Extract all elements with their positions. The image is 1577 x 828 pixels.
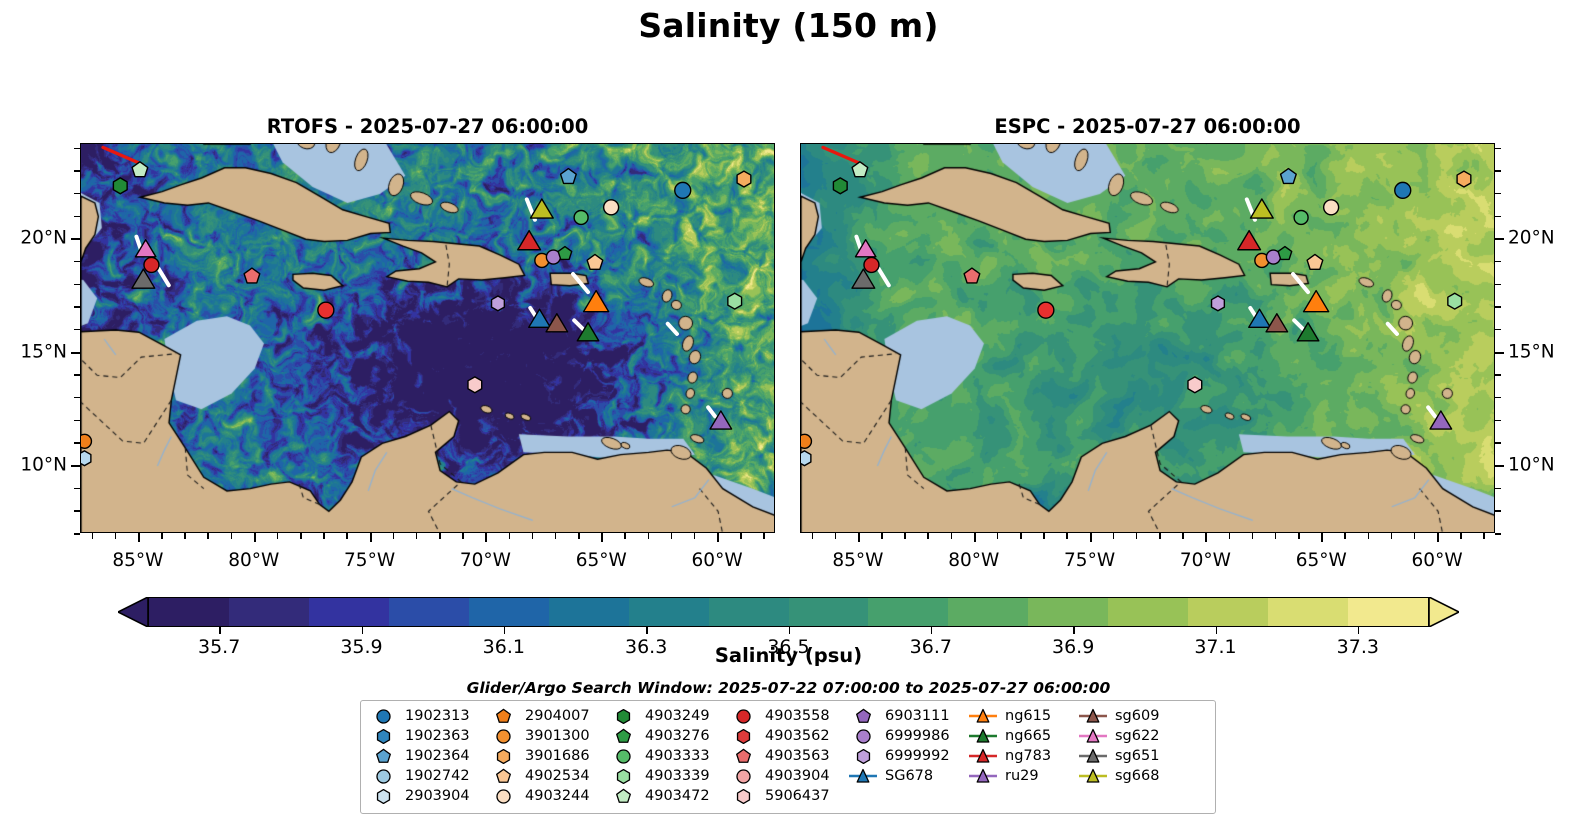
- colorbar-band-8: [789, 598, 869, 626]
- legend-column-6: sg609sg622sg651sg668: [1078, 706, 1188, 809]
- track-red-transect: [103, 147, 142, 164]
- argo-marker-icon: [368, 707, 398, 726]
- y-tick: [71, 238, 80, 240]
- legend-label: sg622: [1108, 728, 1159, 744]
- map-marker-3901686[interactable]: [1457, 171, 1471, 187]
- map-marker-4903339[interactable]: [1448, 293, 1462, 309]
- legend-entry-6903111[interactable]: 6903111: [848, 706, 968, 726]
- y-tick-label: 10°N: [20, 454, 67, 475]
- x-tick-label: 75°W: [1064, 550, 1115, 571]
- colorbar-gradient: [148, 597, 1429, 627]
- legend-label: 4903339: [638, 768, 710, 784]
- x-tick: [1159, 533, 1161, 539]
- panel-espc: ESPC - 2025-07-27 06:00:00 85°W80°W75°W7…: [800, 143, 1495, 533]
- track-ng665-track: [574, 320, 584, 330]
- colorbar-tick: [789, 627, 791, 634]
- y-tick: [1495, 148, 1501, 150]
- colorbar-band-5: [549, 598, 629, 626]
- legend-entry-1902364[interactable]: 1902364: [368, 746, 488, 766]
- legend-label: 4903562: [758, 728, 830, 744]
- legend-label: sg609: [1108, 708, 1159, 724]
- y-tick: [1495, 374, 1501, 376]
- x-tick: [835, 533, 837, 539]
- y-tick: [71, 465, 80, 467]
- x-tick: [1043, 533, 1045, 539]
- x-tick: [858, 533, 860, 542]
- map-marker-3901300b[interactable]: [81, 434, 91, 448]
- argo-marker-icon: [368, 767, 398, 786]
- colorbar-band-10: [948, 598, 1028, 626]
- map-marker-4903249[interactable]: [833, 178, 847, 194]
- y-tick: [1495, 193, 1501, 195]
- colorbar-band-4: [469, 598, 549, 626]
- panel-rtofs: RTOFS - 2025-07-27 06:00:00 85°W80°W75°W…: [80, 143, 775, 533]
- argo-marker-icon: [608, 787, 638, 806]
- x-tick-label: 85°W: [112, 550, 163, 571]
- x-tick: [393, 533, 395, 539]
- map-marker-4903558b[interactable]: [318, 302, 334, 318]
- y-tick: [1495, 397, 1501, 399]
- legend-label: sg668: [1108, 768, 1159, 784]
- legend-entry-1902363[interactable]: 1902363: [368, 726, 488, 746]
- argo-marker-icon: [608, 747, 638, 766]
- legend-box: 1902313190236319023641902742290390429040…: [360, 700, 1216, 814]
- x-tick: [997, 533, 999, 539]
- colorbar-tick: [362, 627, 364, 634]
- map-marker-ng783[interactable]: [518, 231, 541, 250]
- map-marker-4903472[interactable]: [132, 162, 148, 177]
- x-tick: [300, 533, 302, 539]
- map-marker-4902534[interactable]: [1307, 254, 1323, 269]
- legend-label: ng615: [998, 708, 1051, 724]
- y-tick: [1495, 442, 1501, 444]
- x-tick: [1020, 533, 1022, 539]
- legend-label: 6903111: [878, 708, 950, 724]
- colorbar-band-11: [1028, 598, 1108, 626]
- legend-label: ru29: [998, 768, 1039, 784]
- argo-marker-icon: [488, 727, 518, 746]
- map-marker-5906437[interactable]: [1188, 377, 1202, 393]
- argo-marker-icon: [728, 747, 758, 766]
- map-marker-sg609[interactable]: [546, 314, 568, 332]
- x-tick-label: 75°W: [344, 550, 395, 571]
- map-marker-4903558[interactable]: [864, 257, 879, 272]
- x-tick: [1437, 533, 1439, 542]
- argo-marker-icon: [488, 787, 518, 806]
- x-tick: [161, 533, 163, 539]
- x-tick: [648, 533, 650, 539]
- map-marker-4903563[interactable]: [244, 268, 260, 283]
- legend-entry-ng615[interactable]: ng615: [968, 706, 1078, 726]
- map-marker-sg668[interactable]: [1250, 199, 1273, 218]
- glider-marker-icon: [968, 747, 998, 766]
- legend-entry-3901686[interactable]: 3901686: [488, 746, 608, 766]
- colorbar: 35.735.936.136.336.536.736.937.137.3: [118, 597, 1459, 627]
- track-ng615-track: [573, 274, 588, 292]
- page-title: Salinity (150 m): [0, 6, 1577, 45]
- legend-entry-4903563[interactable]: 4903563: [728, 746, 848, 766]
- y-tick: [1495, 420, 1501, 422]
- argo-marker-icon: [848, 727, 878, 746]
- colorbar-tick: [1358, 627, 1360, 634]
- colorbar-band-6: [629, 598, 709, 626]
- colorbar-band-13: [1188, 598, 1268, 626]
- x-tick: [1182, 533, 1184, 539]
- track-ng615-track: [1293, 274, 1308, 292]
- x-tick-label: 85°W: [832, 550, 883, 571]
- y-tick: [1495, 284, 1501, 286]
- legend-entry-3901300[interactable]: 3901300: [488, 726, 608, 746]
- argo-marker-icon: [848, 707, 878, 726]
- x-tick: [717, 533, 719, 542]
- x-tick: [1090, 533, 1092, 542]
- map-marker-6999992[interactable]: [492, 296, 505, 311]
- map-marker-4903276[interactable]: [1278, 247, 1292, 260]
- legend-entry-1902313[interactable]: 1902313: [368, 706, 488, 726]
- x-tick: [1368, 533, 1370, 539]
- legend-label: 2904007: [518, 708, 590, 724]
- x-tick-label: 60°W: [692, 550, 743, 571]
- x-tick-label: 65°W: [576, 550, 627, 571]
- x-tick: [1460, 533, 1462, 539]
- x-tick: [231, 533, 233, 539]
- map-marker-4903558[interactable]: [144, 257, 159, 272]
- legend-entry-1902742[interactable]: 1902742: [368, 766, 488, 786]
- argo-marker-icon: [608, 727, 638, 746]
- legend-entry-5906437[interactable]: 5906437: [728, 786, 848, 806]
- legend-label: 4903472: [638, 788, 710, 804]
- x-tick: [1298, 533, 1300, 539]
- x-tick: [277, 533, 279, 539]
- map-overlay-rtofs: [81, 144, 774, 533]
- colorbar-band-7: [709, 598, 789, 626]
- colorbar-tick: [931, 627, 933, 634]
- y-tick: [71, 352, 80, 354]
- y-tick: [1495, 261, 1501, 263]
- x-tick: [927, 533, 929, 539]
- x-tick-label: 65°W: [1296, 550, 1347, 571]
- legend-entry-ng665[interactable]: ng665: [968, 726, 1078, 746]
- legend-label: 4903563: [758, 748, 830, 764]
- legend-entry-4903472[interactable]: 4903472: [608, 786, 728, 806]
- x-tick: [740, 533, 742, 539]
- x-tick: [1391, 533, 1393, 539]
- track-antilles-track: [668, 324, 677, 334]
- legend-label: ng783: [998, 748, 1051, 764]
- x-tick: [439, 533, 441, 539]
- y-tick: [1495, 352, 1504, 354]
- x-tick: [578, 533, 580, 539]
- legend-entry-4903904[interactable]: 4903904: [728, 766, 848, 786]
- x-tick: [694, 533, 696, 539]
- legend-entry-4902534[interactable]: 4902534: [488, 766, 608, 786]
- x-tick: [370, 533, 372, 542]
- x-tick: [1483, 533, 1485, 539]
- map-marker-4903244[interactable]: [604, 200, 619, 215]
- track-ng665-track: [1294, 320, 1304, 330]
- glider-marker-icon: [848, 767, 878, 786]
- map-marker-1902742[interactable]: [81, 451, 91, 466]
- legend-entry-sg622[interactable]: sg622: [1078, 726, 1188, 746]
- x-tick: [1344, 533, 1346, 539]
- y-tick: [1495, 170, 1501, 172]
- legend-label: 4903904: [758, 768, 830, 784]
- map-rtofs[interactable]: [80, 143, 775, 533]
- legend-label: 1902363: [398, 728, 470, 744]
- map-marker-ng783[interactable]: [1238, 231, 1261, 250]
- glider-marker-icon: [968, 707, 998, 726]
- map-overlay-espc: [801, 144, 1494, 533]
- argo-marker-icon: [728, 707, 758, 726]
- legend-entry-sg668[interactable]: sg668: [1078, 766, 1188, 786]
- glider-marker-icon: [968, 767, 998, 786]
- x-tick: [346, 533, 348, 539]
- x-tick: [184, 533, 186, 539]
- legend-entry-4903562[interactable]: 4903562: [728, 726, 848, 746]
- x-tick: [485, 533, 487, 542]
- x-tick: [974, 533, 976, 542]
- y-tick: [1495, 329, 1501, 331]
- track-red-transect: [823, 147, 862, 164]
- argo-marker-icon: [488, 747, 518, 766]
- colorbar-label: Salinity (psu): [0, 644, 1577, 667]
- colorbar-extend-max: [1429, 597, 1459, 627]
- argo-marker-icon: [368, 727, 398, 746]
- map-marker-4903339[interactable]: [728, 293, 742, 309]
- legend-entry-4903249[interactable]: 4903249: [608, 706, 728, 726]
- x-tick: [1414, 533, 1416, 539]
- colorbar-tick: [1073, 627, 1075, 634]
- x-tick: [1275, 533, 1277, 539]
- map-marker-5906437[interactable]: [468, 377, 482, 393]
- x-tick: [1252, 533, 1254, 539]
- glider-marker-icon: [1078, 727, 1108, 746]
- x-tick: [509, 533, 511, 539]
- map-marker-1902742[interactable]: [801, 451, 811, 466]
- glider-marker-icon: [1078, 747, 1108, 766]
- argo-marker-icon: [728, 787, 758, 806]
- x-tick: [671, 533, 673, 539]
- x-tick: [881, 533, 883, 539]
- colorbar-band-1: [229, 598, 309, 626]
- legend-entry-4903244[interactable]: 4903244: [488, 786, 608, 806]
- x-tick: [1136, 533, 1138, 539]
- track-sg651-track: [878, 268, 888, 285]
- x-tick: [254, 533, 256, 542]
- legend-column-2: 49032494903276490333349033394903472: [608, 706, 728, 809]
- panel-rtofs-title: RTOFS - 2025-07-27 06:00:00: [80, 115, 775, 138]
- colorbar-tick: [1216, 627, 1218, 634]
- x-tick: [416, 533, 418, 539]
- map-marker-6999992[interactable]: [1212, 296, 1225, 311]
- argo-marker-icon: [368, 747, 398, 766]
- y-tick-label: 15°N: [1508, 341, 1555, 362]
- legend-label: 4903244: [518, 788, 590, 804]
- figure-root: Salinity (150 m) RTOFS - 2025-07-27 06:0…: [0, 0, 1577, 828]
- argo-marker-icon: [488, 767, 518, 786]
- x-tick: [1066, 533, 1068, 539]
- x-tick: [532, 533, 534, 539]
- legend-entry-6999986[interactable]: 6999986: [848, 726, 968, 746]
- legend-entry-6999992[interactable]: 6999992: [848, 746, 968, 766]
- legend-column-3: 49035584903562490356349039045906437: [728, 706, 848, 809]
- glider-marker-icon: [1078, 707, 1108, 726]
- map-marker-1902364[interactable]: [1281, 169, 1297, 184]
- map-marker-3901686[interactable]: [737, 171, 751, 187]
- map-marker-4903333[interactable]: [1294, 211, 1308, 225]
- colorbar-band-3: [389, 598, 469, 626]
- x-tick: [904, 533, 906, 539]
- y-tick-label: 20°N: [1508, 228, 1555, 249]
- x-tick: [323, 533, 325, 539]
- colorbar-tick: [219, 627, 221, 634]
- legend-label: 3901686: [518, 748, 590, 764]
- legend-label: sg651: [1108, 748, 1159, 764]
- colorbar-tick: [504, 627, 506, 634]
- colorbar-band-9: [868, 598, 948, 626]
- x-tick: [462, 533, 464, 539]
- map-marker-4903472[interactable]: [852, 162, 868, 177]
- x-tick: [1229, 533, 1231, 539]
- argo-marker-icon: [848, 747, 878, 766]
- map-espc[interactable]: [800, 143, 1495, 533]
- legend-label: 4902534: [518, 768, 590, 784]
- colorbar-band-15: [1348, 598, 1428, 626]
- map-marker-4903276[interactable]: [558, 247, 572, 260]
- colorbar-band-12: [1108, 598, 1188, 626]
- legend-column-5: ng615ng665ng783ru29: [968, 706, 1078, 809]
- argo-marker-icon: [608, 707, 638, 726]
- legend-entry-ng783[interactable]: ng783: [968, 746, 1078, 766]
- legend-entry-2903904[interactable]: 2903904: [368, 786, 488, 806]
- legend-column-0: 19023131902363190236419027422903904: [368, 706, 488, 809]
- legend-entry-sg609[interactable]: sg609: [1078, 706, 1188, 726]
- legend-column-4: 690311169999866999992SG678: [848, 706, 968, 809]
- y-tick-label: 15°N: [20, 341, 67, 362]
- argo-marker-icon: [368, 787, 398, 806]
- x-tick: [92, 533, 94, 539]
- x-tick: [624, 533, 626, 539]
- legend-label: 1902742: [398, 768, 470, 784]
- x-tick-label: 80°W: [228, 550, 279, 571]
- y-tick: [1495, 533, 1501, 535]
- legend-label: 1902313: [398, 708, 470, 724]
- x-tick-label: 60°W: [1412, 550, 1463, 571]
- legend-label: 4903333: [638, 748, 710, 764]
- glider-marker-icon: [968, 727, 998, 746]
- x-tick: [601, 533, 603, 542]
- map-marker-1902313[interactable]: [1395, 182, 1411, 198]
- colorbar-tick: [646, 627, 648, 634]
- y-tick: [1495, 216, 1501, 218]
- legend-entry-sg651[interactable]: sg651: [1078, 746, 1188, 766]
- x-tick: [555, 533, 557, 539]
- y-tick: [1495, 306, 1501, 308]
- x-tick-label: 80°W: [948, 550, 999, 571]
- y-tick: [1495, 465, 1504, 467]
- legend-entry-2904007[interactable]: 2904007: [488, 706, 608, 726]
- panel-espc-title: ESPC - 2025-07-27 06:00:00: [800, 115, 1495, 138]
- legend-entry-4903333[interactable]: 4903333: [608, 746, 728, 766]
- x-tick: [812, 533, 814, 539]
- legend-entry-4903276[interactable]: 4903276: [608, 726, 728, 746]
- legend-column-1: 29040073901300390168649025344903244: [488, 706, 608, 809]
- map-marker-4902534[interactable]: [587, 254, 603, 269]
- argo-marker-icon: [608, 767, 638, 786]
- track-sg651-track: [158, 268, 168, 285]
- x-tick: [207, 533, 209, 539]
- x-tick: [763, 533, 765, 539]
- y-tick-label: 20°N: [20, 228, 67, 249]
- track-ru29-track: [1428, 407, 1435, 416]
- argo-marker-icon: [728, 767, 758, 786]
- y-tick: [1495, 510, 1501, 512]
- y-tick: [74, 533, 80, 535]
- argo-marker-icon: [488, 707, 518, 726]
- legend-label: 3901300: [518, 728, 590, 744]
- map-marker-4903249[interactable]: [113, 178, 127, 194]
- legend-title: Glider/Argo Search Window: 2025-07-22 07…: [0, 679, 1577, 697]
- y-tick: [1495, 488, 1501, 490]
- y-tick-label: 10°N: [1508, 454, 1555, 475]
- legend-entry-SG678[interactable]: SG678: [848, 766, 968, 786]
- colorbar-band-2: [309, 598, 389, 626]
- map-marker-4903244[interactable]: [1324, 200, 1339, 215]
- map-marker-3901300b[interactable]: [801, 434, 811, 448]
- legend-entry-4903558[interactable]: 4903558: [728, 706, 848, 726]
- legend-entry-ru29[interactable]: ru29: [968, 766, 1078, 786]
- legend-label: 4903276: [638, 728, 710, 744]
- x-tick-label: 70°W: [1180, 550, 1231, 571]
- colorbar-band-0: [149, 598, 229, 626]
- x-tick: [138, 533, 140, 542]
- x-tick: [115, 533, 117, 539]
- y-tick: [1495, 238, 1504, 240]
- colorbar-band-14: [1268, 598, 1348, 626]
- legend-label: 5906437: [758, 788, 830, 804]
- legend-label: 6999992: [878, 748, 950, 764]
- colorbar-extend-min: [118, 597, 148, 627]
- x-tick: [1321, 533, 1323, 542]
- map-marker-4903558b[interactable]: [1038, 302, 1054, 318]
- map-marker-1902313[interactable]: [675, 182, 691, 198]
- argo-marker-icon: [728, 727, 758, 746]
- x-tick: [951, 533, 953, 539]
- legend-label: 6999986: [878, 728, 950, 744]
- track-antilles-track: [1388, 324, 1397, 334]
- legend-label: SG678: [878, 768, 933, 784]
- map-marker-sg668[interactable]: [530, 199, 553, 218]
- x-tick: [1113, 533, 1115, 539]
- map-marker-sg609[interactable]: [1266, 314, 1288, 332]
- legend-label: 4903249: [638, 708, 710, 724]
- map-marker-4903563[interactable]: [964, 268, 980, 283]
- legend-entry-4903339[interactable]: 4903339: [608, 766, 728, 786]
- track-ru29-track: [708, 407, 715, 416]
- x-tick: [1205, 533, 1207, 542]
- map-marker-4903333[interactable]: [574, 211, 588, 225]
- legend-label: 2903904: [398, 788, 470, 804]
- legend-label: 4903558: [758, 708, 830, 724]
- glider-marker-icon: [1078, 767, 1108, 786]
- map-marker-1902364[interactable]: [561, 169, 577, 184]
- legend-label: ng665: [998, 728, 1051, 744]
- legend-label: 1902364: [398, 748, 470, 764]
- x-tick-label: 70°W: [460, 550, 511, 571]
